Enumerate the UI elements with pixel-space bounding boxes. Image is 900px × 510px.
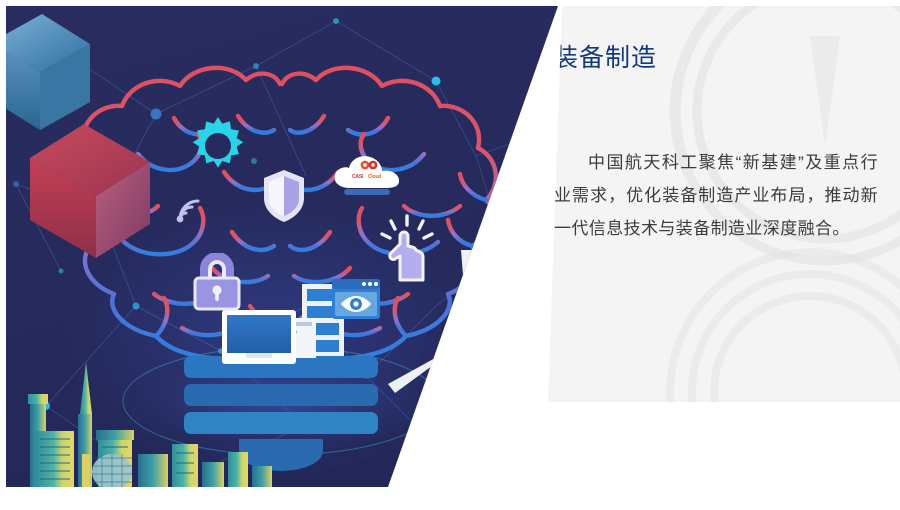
tree-shape: [445, 434, 590, 476]
3d-cube-red: [18, 110, 168, 260]
cloud-brand-cloud: Cloud: [368, 174, 381, 180]
wifi-icon[interactable]: [173, 194, 205, 226]
server-stack-base: [184, 356, 378, 471]
body-paragraph: 中国航天科工聚焦“新基建”及重点行业需求，优化装备制造产业布局，推动新一代信息技…: [554, 146, 878, 245]
cloud-shape: [480, 368, 551, 396]
mountain-1: [461, 422, 533, 476]
shield-icon[interactable]: [262, 168, 306, 224]
casic-logo-mark: [360, 160, 378, 173]
soil-strip: [396, 479, 590, 487]
gear-icon[interactable]: [186, 115, 250, 179]
grass-strip: [396, 470, 590, 479]
lock-icon[interactable]: [189, 253, 245, 311]
click-pointer-icon[interactable]: [380, 214, 434, 284]
mountain-4: [562, 420, 590, 476]
desktop-monitor: [222, 310, 296, 364]
casic-arc-watermark-lower: [660, 242, 900, 402]
orange-building: [503, 420, 553, 476]
page-title: 装备制造: [553, 38, 657, 74]
text-panel: 装备制造 中国航天科工聚焦“新基建”及重点行业需求，优化装备制造产业布局，推动新…: [520, 6, 900, 402]
cloud-brand-casi: CASI: [352, 174, 363, 180]
illustration-panel: CASI Cloud: [6, 6, 590, 487]
mountain-2: [530, 430, 590, 476]
cloud-icon[interactable]: CASI Cloud: [330, 152, 406, 200]
mountain-3: [420, 442, 464, 476]
slide-canvas: CASI Cloud: [0, 0, 900, 510]
browser-eye-icon[interactable]: [331, 278, 381, 320]
